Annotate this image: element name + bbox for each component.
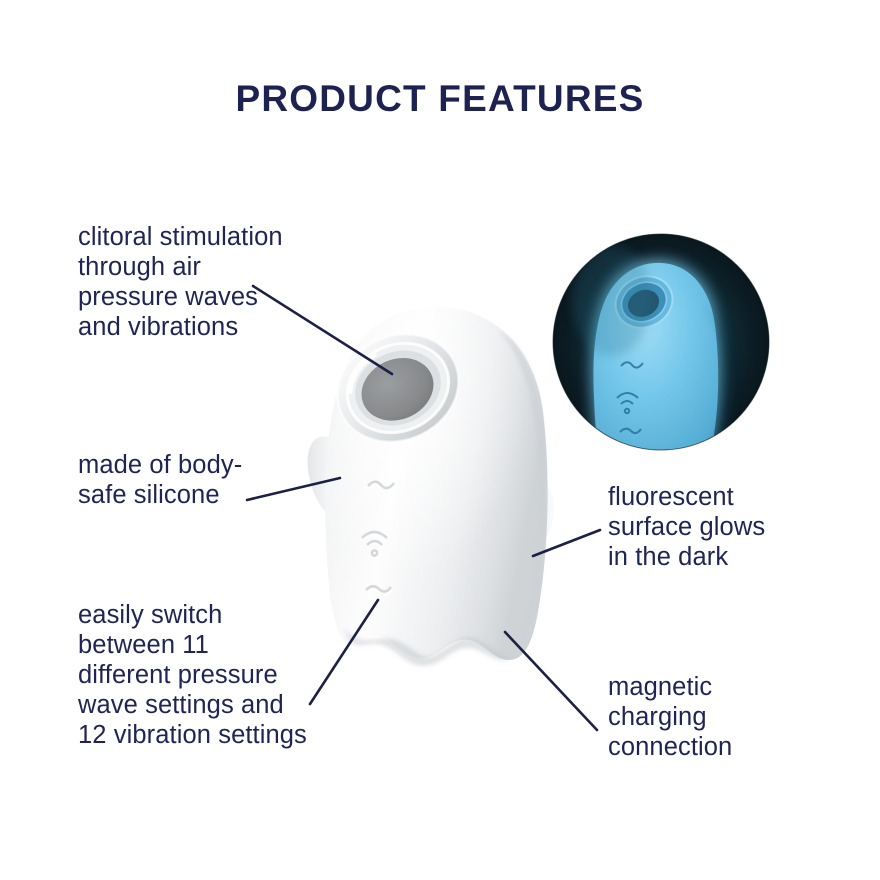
feature-label-clitoral-stimulation: clitoral stimulation through air pressur…: [78, 222, 348, 342]
infographic-canvas: PRODUCT FEATURES: [0, 0, 880, 880]
leader-line-magnetic: [505, 632, 597, 730]
feature-label-magnetic-charging: magnetic charging connection: [608, 672, 828, 762]
feature-label-fluorescent: fluorescent surface glows in the dark: [608, 482, 838, 572]
glow-in-the-dark-inset: [553, 234, 769, 470]
feature-label-body-safe-silicone: made of body- safe silicone: [78, 450, 298, 510]
feature-label-settings: easily switch between 11 different press…: [78, 600, 358, 750]
